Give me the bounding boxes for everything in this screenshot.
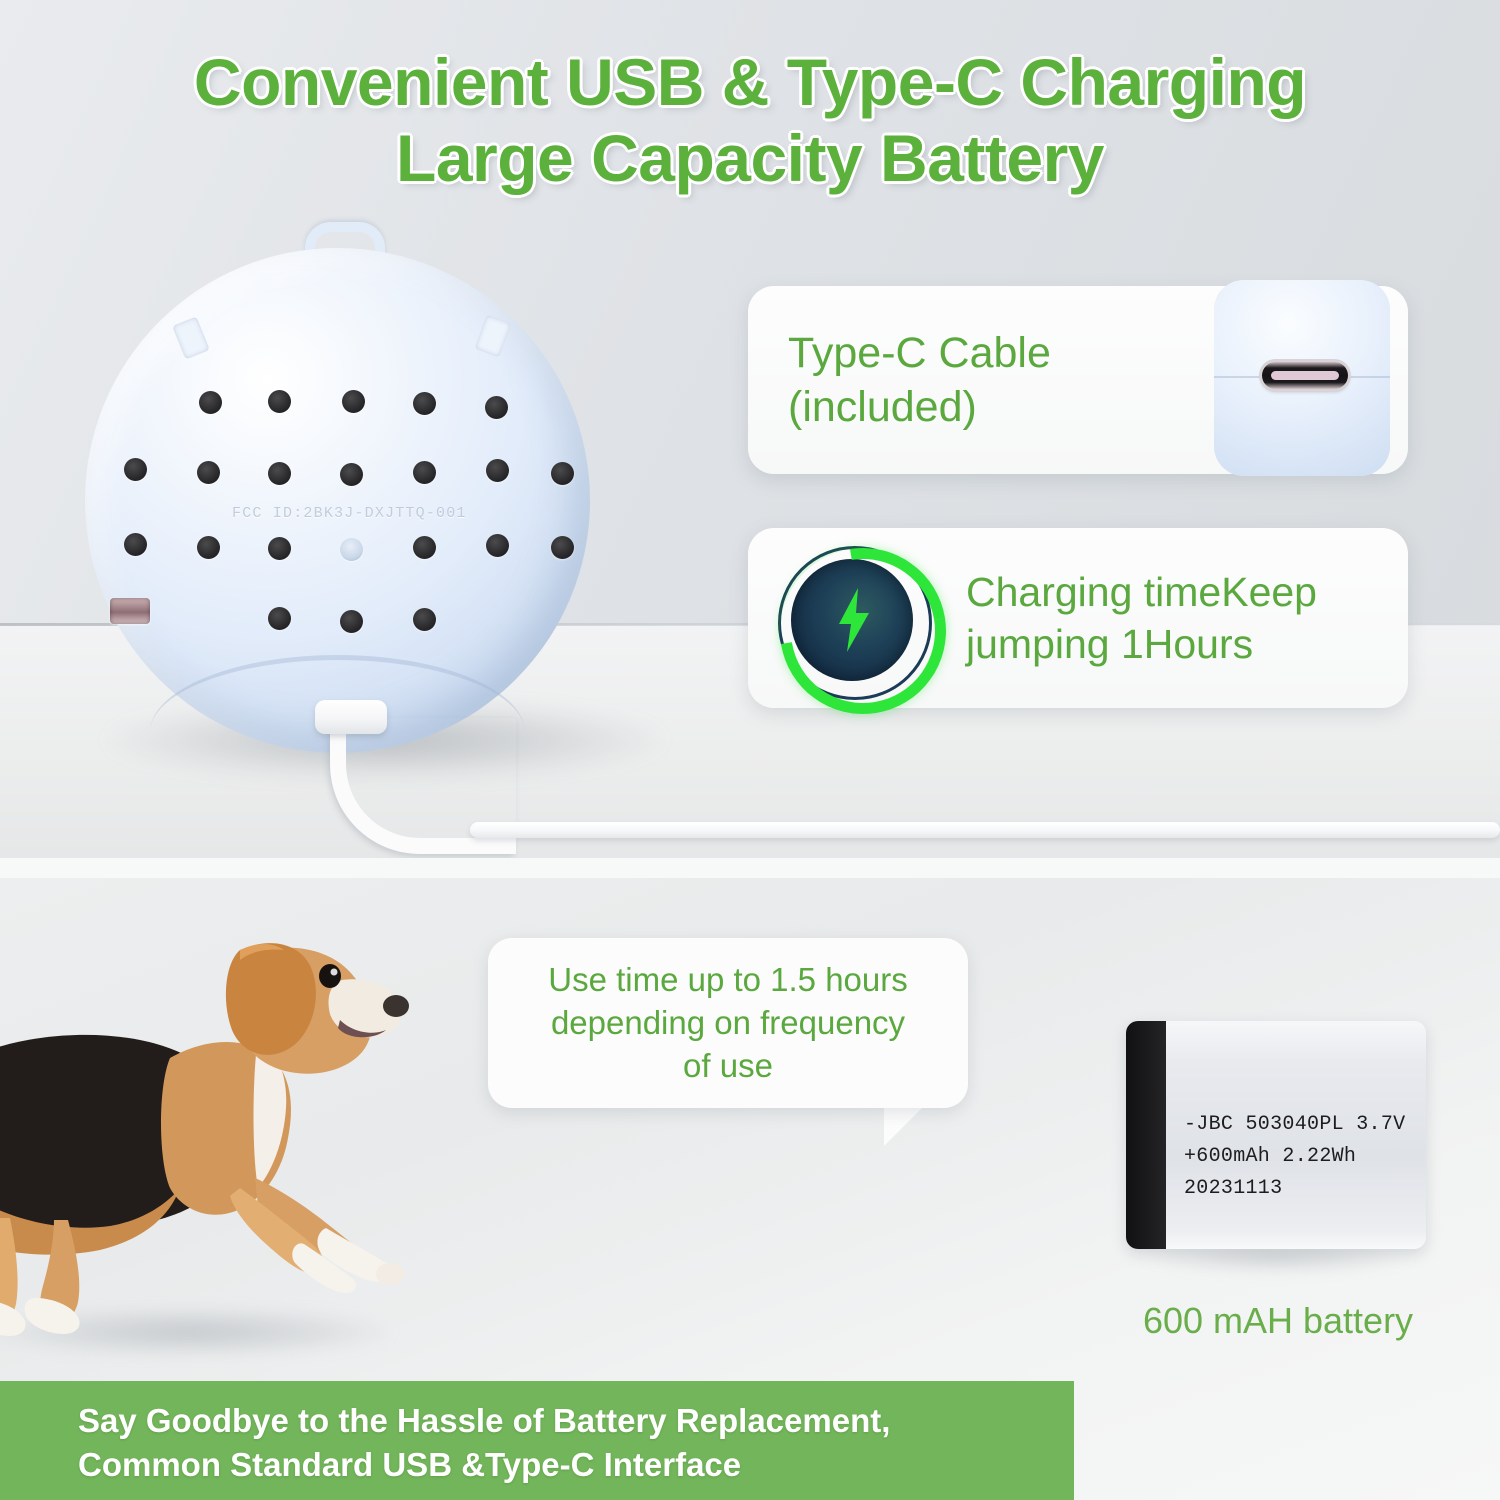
- usage-time-bubble: Use time up to 1.5 hours depending on fr…: [488, 938, 968, 1108]
- speaker-hole: [486, 534, 509, 557]
- top-panel: FCC ID:2BK3J-DXJTTQ-001 Convenient USB &…: [0, 0, 1500, 858]
- speaker-hole-light: [340, 538, 363, 561]
- speaker-hole: [342, 390, 365, 413]
- footer-banner: Say Goodbye to the Hassle of Battery Rep…: [0, 1381, 1074, 1500]
- title-line-2: Large Capacity Battery: [0, 120, 1500, 196]
- callout-charging-label: Charging timeKeep jumping 1Hours: [966, 566, 1317, 670]
- page-title: Convenient USB & Type-C Charging Large C…: [0, 44, 1500, 196]
- charging-bolt-icon: [778, 546, 926, 694]
- speaker-hole: [197, 536, 220, 559]
- speaker-hole: [413, 536, 436, 559]
- speaker-hole: [124, 458, 147, 481]
- footer-banner-line-1: Say Goodbye to the Hassle of Battery Rep…: [78, 1399, 1038, 1443]
- speaker-hole: [485, 396, 508, 419]
- cable-plug: [315, 700, 387, 734]
- battery-label-line-2: +600mAh 2.22Wh 20231113: [1184, 1141, 1426, 1205]
- battery-body: -JBC 503040PL 3.7V +600mAh 2.22Wh 202311…: [1126, 1021, 1426, 1249]
- speaker-hole: [268, 462, 291, 485]
- speaker-hole: [268, 537, 291, 560]
- usage-time-text: Use time up to 1.5 hours depending on fr…: [508, 958, 948, 1087]
- fcc-id-text: FCC ID:2BK3J-DXJTTQ-001: [232, 505, 467, 522]
- callout-type-c-label: Type-C Cable (included): [788, 326, 1051, 434]
- speaker-hole: [340, 463, 363, 486]
- battery-black-edge: [1126, 1021, 1166, 1249]
- battery-label-line-1: -JBC 503040PL 3.7V: [1184, 1109, 1405, 1141]
- speaker-hole: [551, 462, 574, 485]
- beagle-dog-image: [0, 888, 460, 1358]
- usb-port-slot: [110, 598, 150, 624]
- title-line-1: Convenient USB & Type-C Charging: [0, 44, 1500, 120]
- speaker-hole: [268, 607, 291, 630]
- charging-cable-run: [470, 822, 1500, 838]
- speaker-hole: [486, 459, 509, 482]
- speaker-hole: [197, 461, 220, 484]
- speaker-hole: [413, 608, 436, 631]
- speaker-hole: [124, 533, 147, 556]
- callout-charging-time: Charging timeKeep jumping 1Hours: [748, 528, 1408, 708]
- speaker-hole: [551, 536, 574, 559]
- usb-c-port-inset: [1214, 280, 1390, 476]
- footer-banner-line-2: Common Standard USB &Type-C Interface: [78, 1443, 1038, 1487]
- usb-c-port-icon: [1262, 362, 1348, 389]
- panel-divider: [0, 858, 1500, 878]
- battery-caption: 600 mAH battery: [1098, 1300, 1458, 1342]
- callout-type-c-cable: Type-C Cable (included): [748, 286, 1408, 474]
- product-feature-page: FCC ID:2BK3J-DXJTTQ-001 Convenient USB &…: [0, 0, 1500, 1500]
- speaker-hole: [413, 392, 436, 415]
- speaker-hole: [413, 461, 436, 484]
- lightning-bolt-glyph: [834, 586, 874, 654]
- speaker-hole: [268, 390, 291, 413]
- speaker-hole: [199, 391, 222, 414]
- battery-pack-image: -JBC 503040PL 3.7V +600mAh 2.22Wh 202311…: [1126, 1021, 1426, 1249]
- speaker-hole: [340, 610, 363, 633]
